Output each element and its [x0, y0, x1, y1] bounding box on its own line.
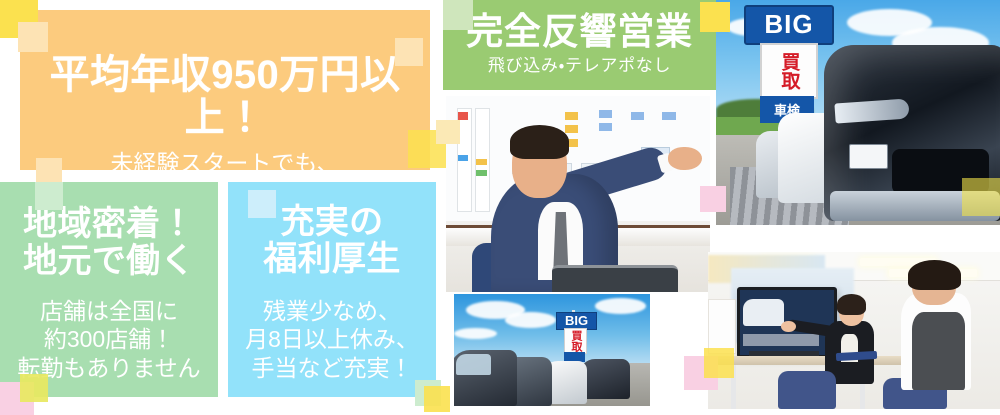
whiteboard-sticky — [458, 112, 469, 120]
deco-pink-square-dealer-mid — [700, 186, 726, 212]
deco-yellow-square-dealer-bottom — [962, 178, 1000, 216]
inbound-headline: 完全反響営業 — [443, 12, 716, 52]
photo-dealership-cars-big-sign: BIG 買取 車検 BIG 買取 車検 の看板と並んだ中古車 — [716, 0, 1000, 225]
whiteboard-sticky — [476, 159, 487, 165]
car-license-plate — [849, 144, 888, 169]
inbound-subline: 飛び込み・テレアポなし — [443, 56, 716, 77]
whiteboard-sticky — [662, 112, 675, 120]
office-chair — [778, 371, 836, 409]
dealer-sign-big-logo: BIG — [744, 5, 833, 45]
deco-cream-square-top-left — [18, 22, 48, 52]
whiteboard-sticky — [599, 110, 612, 118]
deco-yellow-square-blue-bottom — [424, 386, 450, 412]
local-subline: 店舗は全国に 約300店舗！ 転勤もありません — [0, 297, 218, 381]
car-windshield — [456, 354, 491, 374]
cloud — [454, 328, 497, 339]
salesman-hair — [510, 125, 569, 158]
salary-headline: 平均年収950万円以上！ — [20, 54, 430, 140]
photo-dealership-cars-small: BIG 買取 青空の下に並ぶ中古車とBIGの看板 — [454, 294, 650, 406]
dealer-sign-kaitori: 買取 — [760, 43, 818, 99]
deco-cream-square-orange-foot — [36, 158, 62, 184]
deco-mint-square-green-top — [35, 182, 63, 210]
whiteboard-sticky — [631, 112, 644, 120]
whiteboard-sticky — [565, 112, 578, 120]
desktop-monitor — [552, 265, 679, 292]
deco-yellow-square-office-left — [704, 348, 734, 378]
local-headline: 地域密着！ 地元で働く — [0, 206, 218, 279]
staff-hand — [781, 321, 796, 332]
customer-vest — [912, 312, 965, 391]
photo-salesman-pointing-whiteboard: ホワイトボードを指差すスーツ姿の男性社員 — [446, 96, 710, 292]
benefits-subline: 残業少なめ、 月8日以上休み、 手当など充実！ — [228, 297, 436, 381]
salary-subline: 未経験スタートでも、 月収70万円可能です！ — [20, 149, 430, 170]
panel-average-annual-income: 平均年収950万円以上！ 未経験スタートでも、 月収70万円可能です！ — [20, 10, 430, 170]
panel-community-based-work: 地域密着！ 地元で働く 店舗は全国に 約300店舗！ 転勤もありません — [0, 182, 218, 397]
whiteboard-sticky — [458, 155, 469, 161]
deco-yellow-square-green-bottom — [20, 374, 48, 402]
monitor-car-image — [743, 299, 784, 326]
monitor-caption — [743, 334, 819, 347]
customer-hair — [908, 260, 961, 290]
whiteboard-sticky — [476, 170, 487, 176]
deco-lightblue-square-blue-top — [248, 190, 276, 218]
whiteboard-sticky — [599, 123, 612, 131]
deco-cream-square-salesman-left — [436, 120, 460, 144]
staff-hair — [837, 294, 866, 314]
car-rear-dark — [579, 359, 630, 399]
deco-cream-square-top-right — [395, 38, 423, 66]
deco-yellow-square-header-right — [700, 2, 730, 32]
photo-office-consultation: 店内でモニターを使い接客する女性スタッフとお客様 — [708, 252, 1000, 409]
dealer-sign-kaitori: 買取 — [564, 328, 588, 355]
cloud — [505, 312, 556, 328]
recruitment-banner: 平均年収950万円以上！ 未経験スタートでも、 月収70万円可能です！ 地域密着… — [0, 0, 1000, 415]
deco-mint-square-header-left — [443, 0, 473, 30]
whiteboard-sticky — [565, 125, 578, 133]
panel-inbound-sales-only: 完全反響営業 飛び込み・テレアポなし — [443, 0, 716, 90]
wall-documents — [708, 299, 736, 354]
